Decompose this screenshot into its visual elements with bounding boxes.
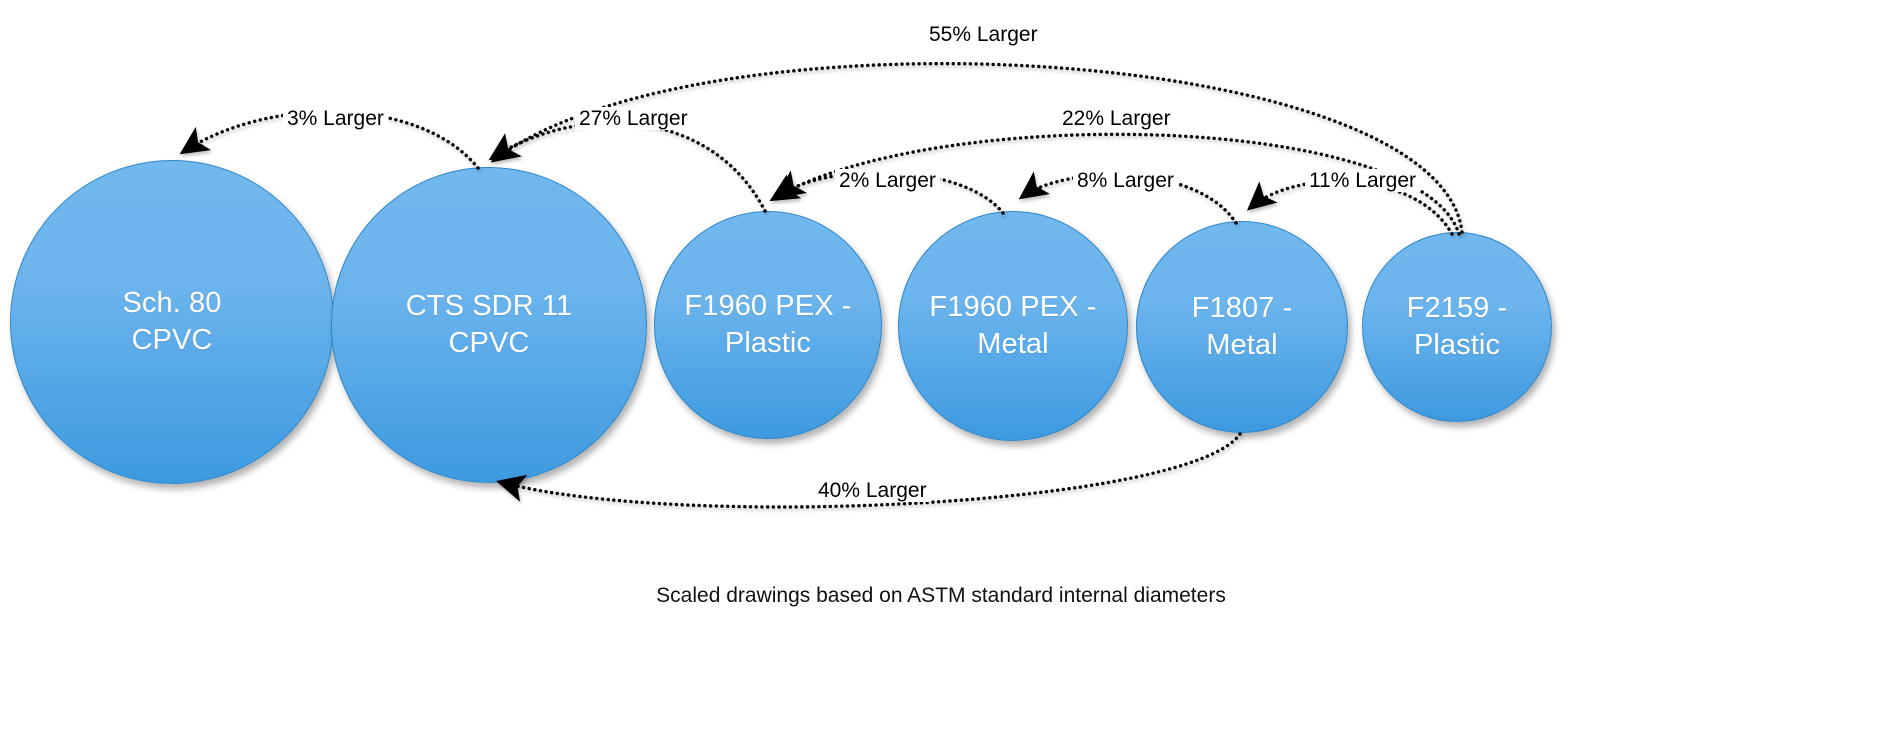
edge-label-11-percent: 11% Larger	[1305, 169, 1420, 192]
circle-label: F1960 PEX - Plastic	[678, 288, 857, 362]
edge-label-3-percent: 3% Larger	[283, 107, 388, 130]
circle-node-f1960-metal[interactable]: F1960 PEX - Metal	[898, 211, 1128, 441]
circle-node-sch80[interactable]: Sch. 80 CPVC	[10, 160, 334, 484]
circle-node-f1807-metal[interactable]: F1807 - Metal	[1136, 221, 1348, 433]
circle-node-f1960-plastic[interactable]: F1960 PEX - Plastic	[654, 211, 882, 439]
edge-label-27-percent: 27% Larger	[575, 107, 692, 130]
circle-label: CTS SDR 11 CPVC	[400, 288, 578, 362]
circle-label: F2159 - Plastic	[1401, 290, 1514, 364]
circle-node-cts11[interactable]: CTS SDR 11 CPVC	[331, 167, 647, 483]
edge-label-8-percent: 8% Larger	[1073, 169, 1178, 192]
diagram-caption: Scaled drawings based on ASTM standard i…	[0, 584, 1882, 608]
edge-label-2-percent: 2% Larger	[835, 169, 940, 192]
edge-label-22-percent: 22% Larger	[1058, 107, 1175, 130]
circle-label: F1807 - Metal	[1186, 290, 1299, 364]
diagram-canvas: Sch. 80 CPVC CTS SDR 11 CPVC F1960 PEX -…	[0, 0, 1882, 748]
circle-label: F1960 PEX - Metal	[923, 289, 1102, 363]
circle-label: Sch. 80 CPVC	[116, 285, 227, 359]
edge-label-40-percent: 40% Larger	[814, 479, 931, 502]
edge-label-55-percent: 55% Larger	[925, 23, 1042, 46]
arrow-55-percent	[494, 64, 1462, 232]
circle-node-f2159-plastic[interactable]: F2159 - Plastic	[1362, 232, 1552, 422]
